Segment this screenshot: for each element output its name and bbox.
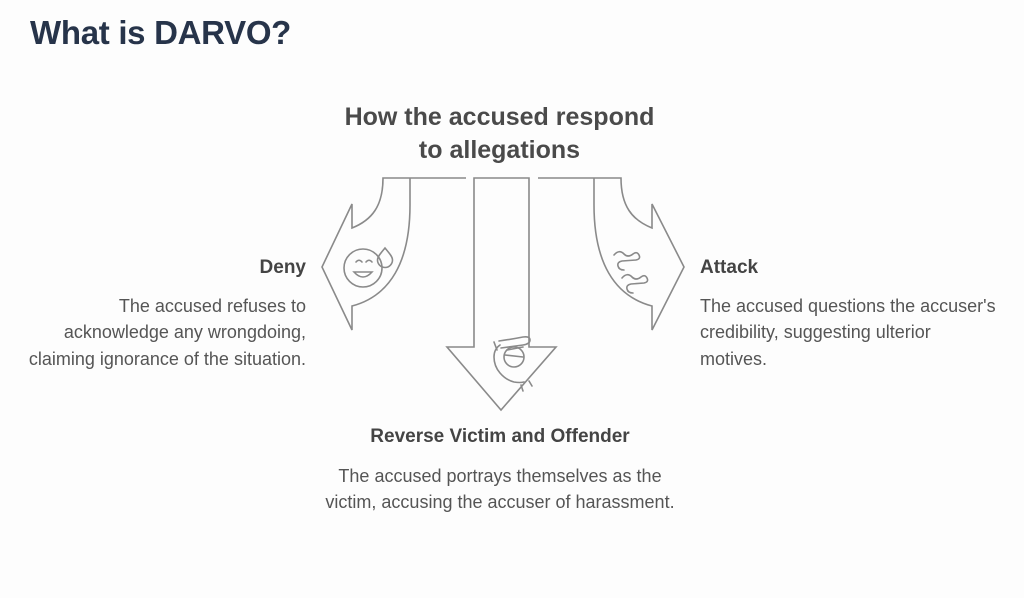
anger-squiggles-icon (614, 252, 648, 293)
arrow-shape-reverse-victim-and-offender (447, 178, 556, 410)
branch-reverse-victim-and-offender: Reverse Victim and Offender The accused … (318, 426, 682, 516)
branch-deny-label: Deny (24, 257, 306, 280)
branch-reverse-victim-and-offender-label: Reverse Victim and Offender (318, 426, 682, 449)
branch-attack-description: The accused questions the accuser's cred… (700, 293, 1000, 373)
diagram-heading-line-1: How the accused respond (262, 101, 737, 134)
branch-deny: Deny The accused refuses to acknowledge … (24, 257, 306, 373)
branch-attack: Attack The accused questions the accuser… (700, 257, 1000, 373)
diagram-heading: How the accused respond to allegations (262, 101, 737, 168)
branch-deny-description: The accused refuses to acknowledge any w… (24, 293, 306, 373)
sweat-smile-face-icon (344, 248, 393, 287)
page-title: What is DARVO? (30, 14, 291, 52)
slide-canvas: What is DARVO? How the accused respond t… (0, 0, 1024, 598)
accusing-person-icon (494, 337, 532, 391)
arrow-shape-attack (538, 178, 684, 330)
arrow-shape-deny (322, 178, 466, 330)
branch-attack-label: Attack (700, 257, 1000, 280)
diagram-heading-line-2: to allegations (262, 134, 737, 167)
branch-reverse-victim-and-offender-description: The accused portrays themselves as the v… (318, 463, 682, 516)
